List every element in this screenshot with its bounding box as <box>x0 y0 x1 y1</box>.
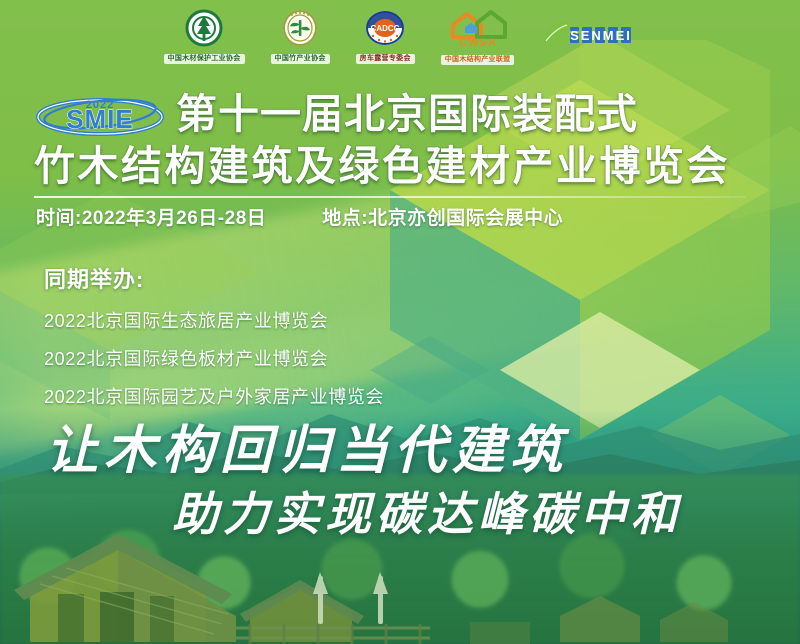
svg-text:SMIE: SMIE <box>66 104 134 134</box>
svg-text:CADCC: CADCC <box>371 24 400 33</box>
event-venue: 地点:北京亦创国际会展中心 <box>322 206 563 232</box>
sponsor-logo-5: SENMEI <box>540 17 636 56</box>
event-poster: 中国木材保护工业协会 <box>0 0 800 644</box>
event-title-line2: 竹木结构建筑及绿色建材产业博览会 <box>34 142 730 190</box>
sponsor-logo-strip: 中国木材保护工业协会 <box>0 0 800 72</box>
sponsor-logo-1: 中国木材保护工业协会 <box>164 8 245 64</box>
event-meta: 时间:2022年3月26日-28日 地点:北京亦创国际会展中心 <box>36 206 736 232</box>
concurrent-heading: 同期举办: <box>44 265 384 295</box>
house-cwsa-icon: CWSA <box>447 7 509 54</box>
bamboo-seal-icon <box>280 8 320 53</box>
sponsor-logo-4: CWSA 中国木结构产业联盟 <box>441 7 515 65</box>
smie-brand-logo: 2022 SMIE <box>34 90 166 138</box>
slogan-line2: 助力实现碳达峰碳中和 <box>172 486 682 542</box>
slogan-line1: 让木构回归当代建筑 <box>46 420 568 482</box>
poster-content: 2022 SMIE 第十一届北京国际装配式 竹木结构建筑及绿色建材产业博览会 时… <box>0 0 800 644</box>
event-date: 时间:2022年3月26日-28日 <box>36 206 266 232</box>
svg-text:CWSA: CWSA <box>459 37 497 49</box>
sponsor-logo-4-label: 中国木结构产业联盟 <box>441 55 515 65</box>
concurrent-event-item: 2022北京国际园艺及户外家居产业博览会 <box>44 385 384 409</box>
pine-tree-shield-icon <box>184 8 224 53</box>
sponsor-logo-1-label: 中国木材保护工业协会 <box>164 54 245 64</box>
sponsor-logo-2-label: 中国竹产业协会 <box>271 54 330 64</box>
sponsor-logo-2: 中国竹产业协会 <box>271 8 330 64</box>
senmei-leaf-icon: SENMEI <box>540 17 636 56</box>
concurrent-events: 同期举办: 2022北京国际生态旅居产业博览会 2022北京国际绿色板材产业博览… <box>44 265 384 409</box>
concurrent-event-item: 2022北京国际绿色板材产业博览会 <box>44 347 384 371</box>
title-row: 2022 SMIE 第十一届北京国际装配式 <box>34 90 638 138</box>
svg-text:SENMEI: SENMEI <box>571 28 633 43</box>
sponsor-logo-3-label: 房车露营专委会 <box>356 54 415 64</box>
cadcc-badge-icon: CADCC <box>364 8 406 53</box>
sponsor-logo-3: CADCC 房车露营专委会 <box>356 8 415 64</box>
concurrent-event-item: 2022北京国际生态旅居产业博览会 <box>44 309 384 333</box>
title-divider <box>34 196 746 198</box>
event-title-line1: 第十一届北京国际装配式 <box>176 90 638 138</box>
